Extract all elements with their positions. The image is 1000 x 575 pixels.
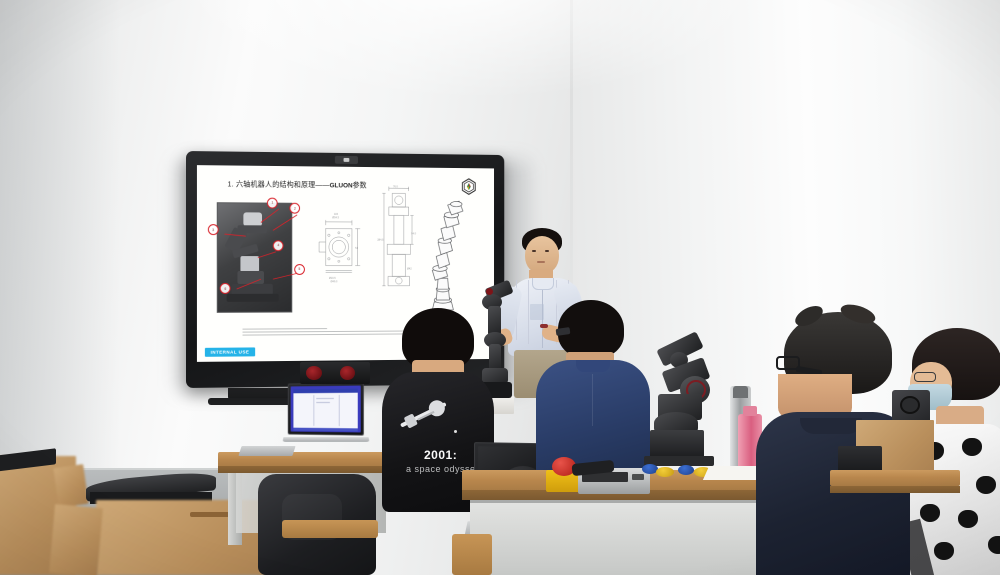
laptop-back-left-keyboard[interactable]: [283, 437, 370, 442]
shirt-text-title: 2001:: [424, 448, 457, 462]
laptop-back-left[interactable]: [288, 382, 364, 435]
svg-text:104: 104: [334, 213, 339, 217]
desk-right: [830, 470, 960, 486]
desk-right-edge: [830, 486, 960, 493]
svg-text:Ø19.5: Ø19.5: [329, 276, 336, 280]
svg-text:51: 51: [355, 246, 358, 250]
cad-drawing-front: Ø54.5104 Ø19.5Ø46.0 51: [303, 205, 374, 306]
chair-front-left: [282, 520, 378, 538]
svg-text:284.5: 284.5: [377, 238, 384, 242]
shirt-spaceship-graphic: [394, 389, 458, 448]
presenter-mouth: [537, 261, 545, 263]
cardboard-flap-center: [49, 504, 103, 575]
student-right-man-collar: [800, 418, 862, 434]
cardboard-flap-left: [53, 464, 88, 508]
camera-icon: [335, 156, 358, 164]
presenter-eye-left: [532, 250, 536, 252]
presenter-eye-right: [545, 250, 549, 252]
chair-front-right: [452, 534, 492, 575]
presenter-head: [525, 236, 559, 274]
desk-center-panel: [470, 500, 790, 575]
keyboard-left[interactable]: [238, 446, 295, 456]
desk-center-panel-top: [470, 500, 790, 503]
suction-cup-3: [678, 465, 694, 475]
robot-arm-desk: [640, 338, 726, 478]
woman-glasses-icon: [914, 372, 936, 382]
internal-use-badge: INTERNAL USE: [205, 347, 256, 356]
svg-text:Ø46.0: Ø46.0: [331, 280, 338, 284]
red-component-right: [340, 366, 355, 380]
student-center-collar: [576, 360, 610, 372]
suction-cup-2: [656, 467, 674, 477]
red-component-left: [306, 366, 322, 380]
classroom-scene: CONF 1. 六轴机器人的结构和原理——GLUON参数: [0, 0, 1000, 575]
robot-arm-3d-render: [398, 194, 485, 313]
presenter-collar: [532, 278, 554, 290]
svg-text:76.0: 76.0: [393, 184, 398, 188]
